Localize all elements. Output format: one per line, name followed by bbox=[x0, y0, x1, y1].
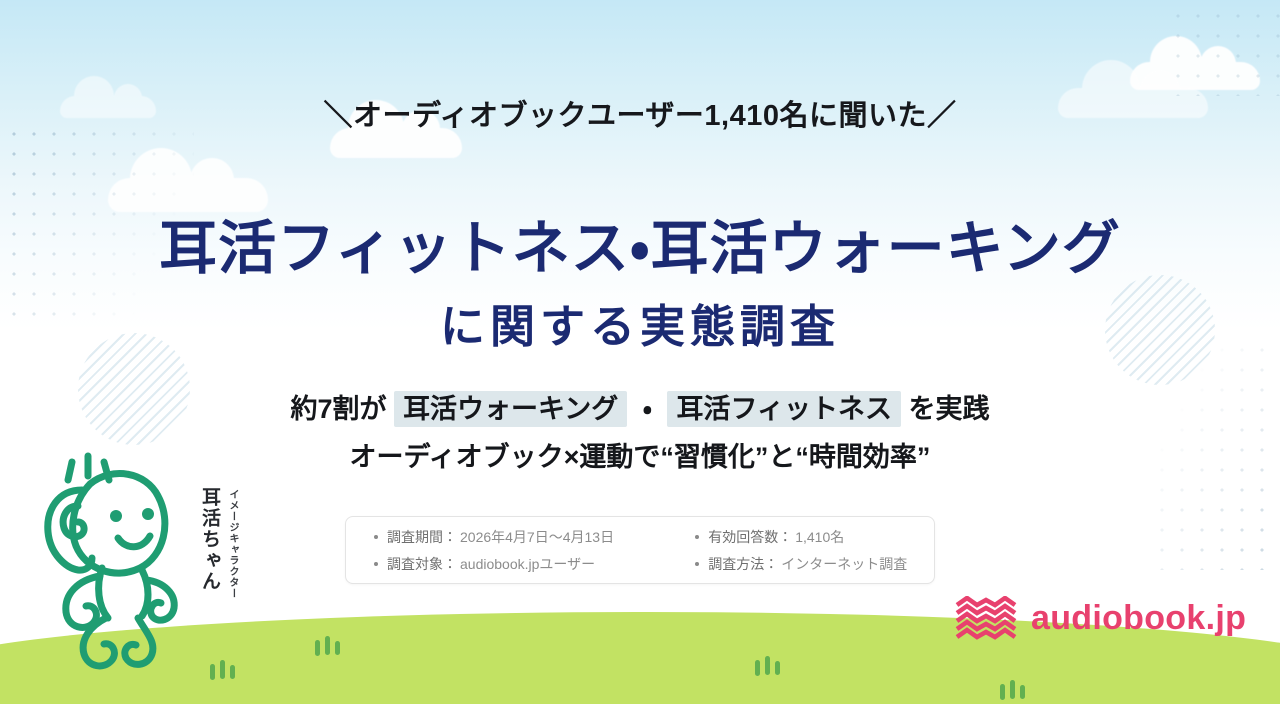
page-title-line1: 耳活フィットネス・耳活ウォーキング bbox=[0, 217, 1280, 281]
survey-info-label: 有効回答数： bbox=[708, 527, 792, 547]
survey-info-column-right: 有効回答数： 1,410名 調査方法： インターネット調査 bbox=[691, 527, 924, 574]
poster-stage: ＼オーディオブックユーザー1,410名に聞いた／ 耳活フィットネス・耳活ウォーキ… bbox=[0, 0, 1280, 704]
survey-info-column-left: 調査期間： 2026年4月7日〜4月13日 調査対象： audiobook.jp… bbox=[356, 527, 691, 574]
mascot-label: 耳活ちゃん イメージキャラクター bbox=[196, 487, 240, 607]
survey-info-value: 1,410名 bbox=[795, 527, 844, 547]
grass-tuft-icon bbox=[335, 641, 340, 655]
bullet-icon bbox=[374, 535, 378, 539]
survey-info-label: 調査期間： bbox=[387, 527, 457, 547]
bullet-icon bbox=[374, 562, 378, 566]
dot-grid-decoration-top-right bbox=[1168, 6, 1280, 96]
grass-tuft-icon bbox=[315, 640, 320, 656]
survey-info-row: 調査方法： インターネット調査 bbox=[695, 554, 924, 574]
survey-info-row: 調査対象： audiobook.jpユーザー bbox=[374, 554, 691, 574]
bullet-icon bbox=[695, 535, 699, 539]
lead-separator: ・ bbox=[635, 394, 660, 424]
survey-info-box: 調査期間： 2026年4月7日〜4月13日 調査対象： audiobook.jp… bbox=[345, 516, 935, 584]
grass-tuft-icon bbox=[765, 656, 770, 675]
grass-tuft-icon bbox=[230, 665, 235, 679]
page-title-line2: に関する実態調査 bbox=[0, 302, 1280, 352]
lead-highlight-walking: 耳活ウォーキング bbox=[394, 391, 627, 427]
mascot-character-mimikatsu-chan bbox=[30, 440, 200, 680]
survey-info-value: 2026年4月7日〜4月13日 bbox=[460, 527, 614, 547]
survey-info-value: インターネット調査 bbox=[781, 554, 907, 574]
grass-tuft-icon bbox=[755, 660, 760, 676]
grass-tuft-icon bbox=[1000, 684, 1005, 700]
mascot-name: 耳活ちゃん bbox=[196, 487, 223, 592]
lead-line-1: 約7割が 耳活ウォーキング ・ 耳活フィットネス を実践 bbox=[0, 387, 1280, 426]
mascot-kind: イメージキャラクター bbox=[225, 489, 240, 599]
bullet-icon bbox=[695, 562, 699, 566]
audiobook-jp-logo[interactable]: audiobook.jp bbox=[955, 596, 1246, 640]
grass-tuft-icon bbox=[325, 636, 330, 655]
audiobook-book-wave-icon bbox=[955, 596, 1017, 640]
grass-tuft-icon bbox=[210, 664, 215, 680]
survey-info-value: audiobook.jpユーザー bbox=[460, 554, 595, 574]
mascot-illustration-icon bbox=[30, 440, 200, 680]
survey-info-row: 有効回答数： 1,410名 bbox=[695, 527, 924, 547]
grass-tuft-icon bbox=[775, 661, 780, 675]
grass-tuft-icon bbox=[1020, 685, 1025, 699]
survey-info-label: 調査対象： bbox=[387, 554, 457, 574]
grass-tuft-icon bbox=[220, 660, 225, 679]
eyebrow-text: ＼オーディオブックユーザー1,410名に聞いた／ bbox=[0, 92, 1280, 134]
lead-suffix: を実践 bbox=[908, 394, 989, 424]
survey-info-row: 調査期間： 2026年4月7日〜4月13日 bbox=[374, 527, 691, 547]
lead-highlight-fitness: 耳活フィットネス bbox=[667, 391, 900, 427]
logo-wordmark: audiobook.jp bbox=[1031, 601, 1246, 635]
grass-tuft-icon bbox=[1010, 680, 1015, 699]
survey-info-label: 調査方法： bbox=[708, 554, 778, 574]
lead-prefix: 約7割が bbox=[291, 394, 387, 424]
